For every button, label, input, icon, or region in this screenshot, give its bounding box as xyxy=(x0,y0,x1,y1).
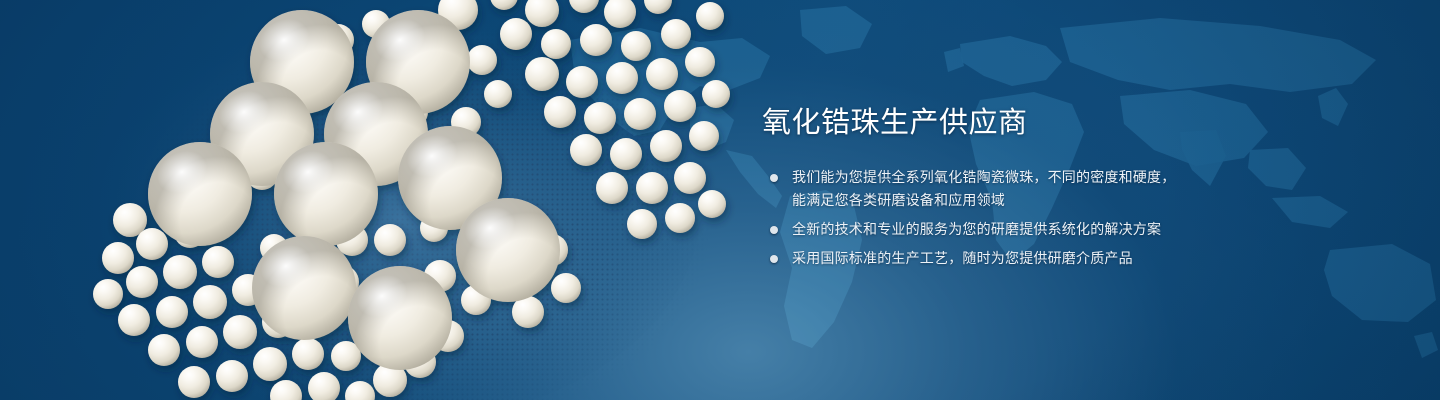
banner-copy: 氧化锆珠生产供应商 我们能为您提供全系列氧化锆陶瓷微珠，不同的密度和硬度， 能满… xyxy=(762,108,1222,270)
bullet-dot-icon xyxy=(770,226,778,234)
list-item: 全新的技术和专业的服务为您的研磨提供系统化的解决方案 xyxy=(762,218,1222,241)
list-item-label: 采用国际标准的生产工艺，随时为您提供研磨介质产品 xyxy=(792,247,1222,270)
list-item-label-line2: 能满足您各类研磨设备和应用领域 xyxy=(792,189,1222,212)
bullet-dot-icon xyxy=(770,255,778,263)
bullet-dot-icon xyxy=(770,174,778,182)
hero-banner: 氧化锆珠生产供应商 我们能为您提供全系列氧化锆陶瓷微珠，不同的密度和硬度， 能满… xyxy=(0,0,1440,400)
zirconia-beads-photo xyxy=(90,0,730,400)
bead-cluster xyxy=(90,0,730,400)
feature-list: 我们能为您提供全系列氧化锆陶瓷微珠，不同的密度和硬度， 能满足您各类研磨设备和应… xyxy=(762,166,1222,270)
page-title: 氧化锆珠生产供应商 xyxy=(762,108,1222,140)
list-item: 我们能为您提供全系列氧化锆陶瓷微珠，不同的密度和硬度， 能满足您各类研磨设备和应… xyxy=(762,166,1222,212)
list-item-label: 全新的技术和专业的服务为您的研磨提供系统化的解决方案 xyxy=(792,218,1222,241)
list-item: 采用国际标准的生产工艺，随时为您提供研磨介质产品 xyxy=(762,247,1222,270)
list-item-label: 我们能为您提供全系列氧化锆陶瓷微珠，不同的密度和硬度， xyxy=(792,166,1222,189)
